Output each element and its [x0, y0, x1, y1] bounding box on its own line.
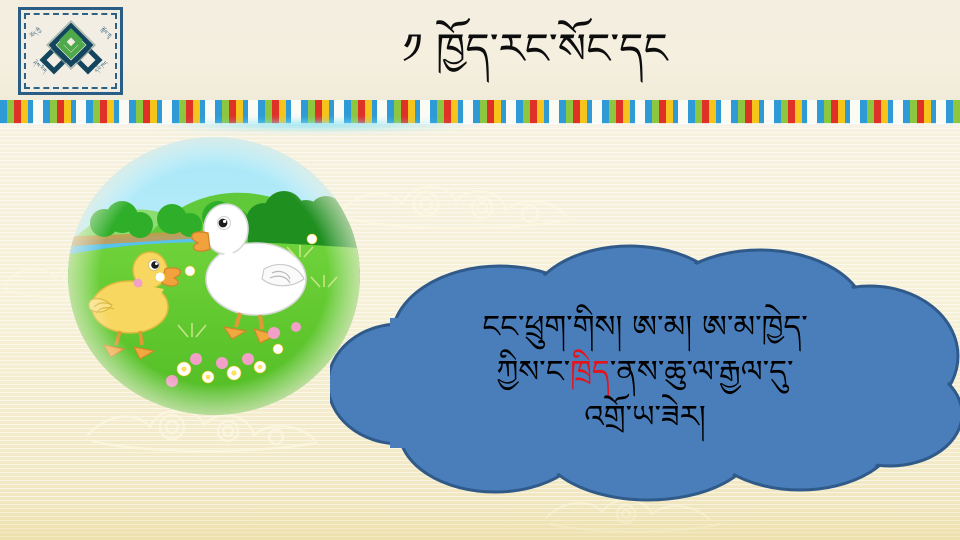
- speech-cloud-text: ངང་ཕྲུག་གིས། ཨ་མ། ཨ་མ་ཁྱེད་ ཀྱིས་ང་ཁྲིད་…: [330, 238, 960, 503]
- speech-cloud-bubble: ངང་ཕྲུག་གིས། ཨ་མ། ཨ་མ་ཁྱེད་ ཀྱིས་ང་ཁྲིད་…: [330, 238, 960, 503]
- prayer-flag-stripe-band: [0, 100, 960, 124]
- bottom-gradient-band: [0, 500, 960, 540]
- ducks-illustration-svg: [68, 137, 360, 415]
- band-glow-highlight: [150, 118, 480, 132]
- cloud-line2-highlight-word: ཁྲིད: [570, 354, 610, 390]
- cloud-line2-pre: ཀྱིས་ང་: [496, 354, 570, 390]
- school-logo: བོད་ཀྱི སློབ་གྲྭ ཤེས་རིག དཔེ་ཁང: [18, 7, 123, 95]
- cloud-text-line-2: ཀྱིས་ང་ཁྲིད་ནས་ཆུ་ལ་རྒྱལ་དུ་: [496, 353, 793, 392]
- cloud-swirl-ornament-top: [330, 168, 590, 238]
- cloud-line2-post: ་ནས་ཆུ་ལ་རྒྱལ་དུ་: [610, 354, 794, 390]
- logo-inner-frame: བོད་ཀྱི སློབ་གྲྭ ཤེས་རིག དཔེ་ཁང: [24, 13, 117, 89]
- page-title: ༡ ཁྱོད་རང་སོང་དང: [300, 8, 770, 90]
- slide-header: བོད་ཀྱི སློབ་གྲྭ ཤེས་རིག དཔེ་ཁང ༡ ཁྱོད་ར…: [0, 0, 960, 100]
- slide-canvas: བོད་ཀྱི སློབ་གྲྭ ཤེས་རིག དཔེ་ཁང ༡ ཁྱོད་ར…: [0, 0, 960, 540]
- ducks-in-meadow-photo: [68, 137, 360, 415]
- cloud-text-line-1: ངང་ཕྲུག་གིས། ཨ་མ། ཨ་མ་ཁྱེད་: [482, 308, 808, 347]
- cloud-text-line-3: འགྲོ་ཡ་ཟེར།: [584, 398, 706, 437]
